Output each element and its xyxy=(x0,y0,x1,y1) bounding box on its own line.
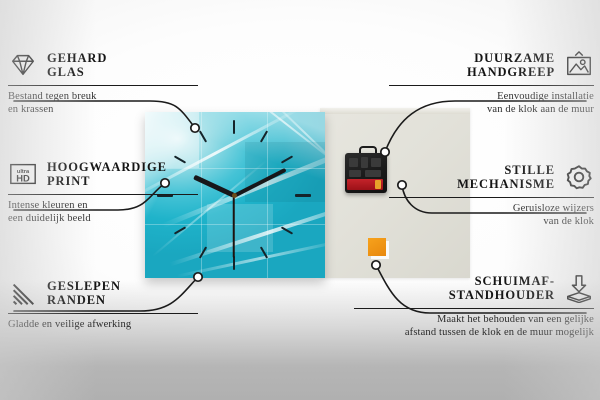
feature-title-line1: SCHUIMAF- xyxy=(449,274,555,288)
feature-desc-line1: Eenvoudige installatie xyxy=(389,91,594,104)
battery-terminal xyxy=(375,180,381,189)
feature-title: STILLE MECHANISME xyxy=(457,163,555,191)
feature-desc-line2: van de klok xyxy=(389,216,594,229)
clock-movement-box xyxy=(345,153,387,193)
ultra-hd-icon-bottom-text: HD xyxy=(16,174,30,184)
feature-description: Eenvoudige installatie van de klok aan d… xyxy=(389,91,594,116)
beveled-edge-icon xyxy=(8,278,38,308)
feature-desc-line1: Gladde en veilige afwerking xyxy=(8,319,198,332)
feature-title-line1: DUURZAME xyxy=(467,51,555,65)
feature-desc-line1: Maakt het behouden van een gelijke xyxy=(354,314,594,327)
press-down-pad-icon xyxy=(564,273,594,303)
gear-icon xyxy=(564,162,594,192)
movement-slot xyxy=(349,170,361,177)
movement-slot xyxy=(371,158,381,167)
clock-hour-hand xyxy=(193,175,235,198)
feature-divider xyxy=(8,194,198,195)
feature-title-line1: HOOGWAARDIGE xyxy=(47,160,167,174)
feature-divider xyxy=(354,308,594,309)
clock-hand-hub xyxy=(232,193,237,198)
feature-header: DUURZAME HANDGREEP xyxy=(389,50,594,80)
feature-description: Gladde en veilige afwerking xyxy=(8,319,198,332)
feature-title: HOOGWAARDIGE PRINT xyxy=(47,160,167,188)
feature-divider xyxy=(389,85,594,86)
feature-title: GEHARD GLAS xyxy=(47,51,107,79)
feature-description: Bestand tegen breuk en krassen xyxy=(8,91,198,116)
feature-schuimafstandhouder: SCHUIMAF- STANDHOUDER Maakt het behouden… xyxy=(354,273,594,339)
clock-battery xyxy=(347,179,383,190)
product-feature-infographic: GEHARD GLAS Bestand tegen breuk en krass… xyxy=(0,0,600,400)
movement-slot xyxy=(361,157,368,168)
clock-second-hand xyxy=(233,195,235,257)
feature-desc-line2: afstand tussen de klok en de muur mogeli… xyxy=(354,327,594,340)
feature-title-line2: RANDEN xyxy=(47,293,121,307)
feature-header: ultra HD HOOGWAARDIGE PRINT xyxy=(8,159,198,189)
feature-title-line2: GLAS xyxy=(47,65,107,79)
feature-title-line2: PRINT xyxy=(47,174,167,188)
feature-header: GEHARD GLAS xyxy=(8,50,198,80)
ultra-hd-icon: ultra HD xyxy=(8,159,38,189)
feature-desc-line1: Intense kleuren en xyxy=(8,200,198,213)
feature-geslepen-randen: GESLEPEN RANDEN Gladde en veilige afwerk… xyxy=(8,278,198,332)
feature-description: Maakt het behouden van een gelijke afsta… xyxy=(354,314,594,339)
feature-gehard-glas: GEHARD GLAS Bestand tegen breuk en krass… xyxy=(8,50,198,116)
feature-title: DUURZAME HANDGREEP xyxy=(467,51,555,79)
print-seam xyxy=(267,112,268,278)
clock-tick-6 xyxy=(233,256,235,270)
feature-title-line1: STILLE xyxy=(457,163,555,177)
picture-hanger-icon xyxy=(564,50,594,80)
feature-description: Intense kleuren en een duidelijk beeld xyxy=(8,200,198,225)
clock-tick-12 xyxy=(233,120,235,134)
feature-header: SCHUIMAF- STANDHOUDER xyxy=(354,273,594,303)
feature-divider xyxy=(389,197,594,198)
foam-spacer-pad xyxy=(368,238,386,256)
feature-stille-mechanisme: STILLE MECHANISME Geruisloze wijzers van… xyxy=(389,162,594,228)
feature-desc-line1: Geruisloze wijzers xyxy=(389,203,594,216)
feature-title: GESLEPEN RANDEN xyxy=(47,279,121,307)
feature-desc-line1: Bestand tegen breuk xyxy=(8,91,198,104)
feature-hoogwaardige-print: ultra HD HOOGWAARDIGE PRINT Intense kleu… xyxy=(8,159,198,225)
movement-slot xyxy=(365,170,381,177)
feature-title-line1: GESLEPEN xyxy=(47,279,121,293)
feature-title-line2: MECHANISME xyxy=(457,177,555,191)
feature-header: STILLE MECHANISME xyxy=(389,162,594,192)
movement-slot xyxy=(349,158,358,167)
feature-title-line2: STANDHOUDER xyxy=(449,288,555,302)
feature-description: Geruisloze wijzers van de klok xyxy=(389,203,594,228)
feature-desc-line2: een duidelijk beeld xyxy=(8,213,198,226)
feature-desc-line2: en krassen xyxy=(8,104,198,117)
artwork-band xyxy=(207,204,273,252)
feature-title-line1: GEHARD xyxy=(47,51,107,65)
feature-desc-line2: van de klok aan de muur xyxy=(389,104,594,117)
feature-title: SCHUIMAF- STANDHOUDER xyxy=(449,274,555,302)
feature-divider xyxy=(8,313,198,314)
feature-header: GESLEPEN RANDEN xyxy=(8,278,198,308)
clock-tick-3 xyxy=(295,194,311,197)
feature-title-line2: HANDGREEP xyxy=(467,65,555,79)
diamond-icon xyxy=(8,50,38,80)
feature-divider xyxy=(8,85,198,86)
feature-duurzame-handgreep: DUURZAME HANDGREEP Eenvoudige installati… xyxy=(389,50,594,116)
